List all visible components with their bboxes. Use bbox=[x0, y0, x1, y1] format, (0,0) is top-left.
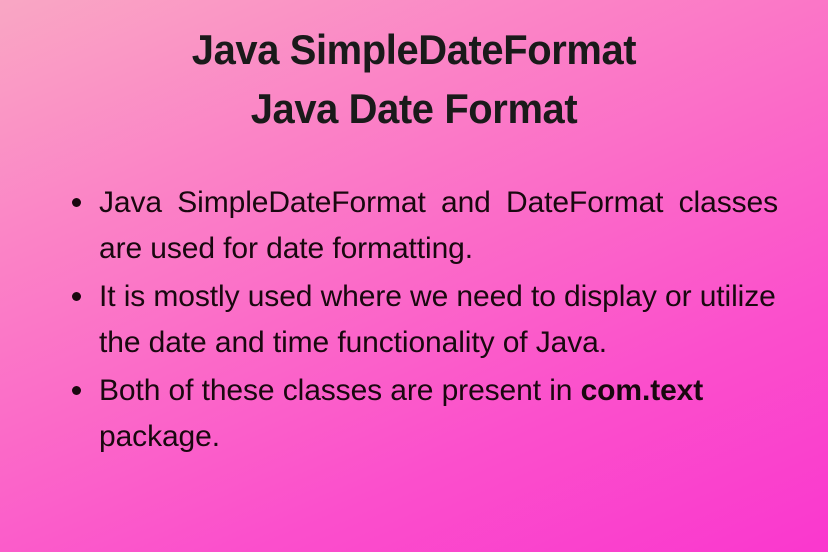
list-item-text-segment: It is mostly used where we need to displ… bbox=[99, 280, 776, 359]
list-item-text-segment-tail: package. bbox=[99, 420, 220, 453]
list-item-text-segment: Both of these classes are present in bbox=[99, 374, 581, 407]
page-title-line-1: Java SimpleDateFormat bbox=[21, 20, 808, 79]
list-item-text: Both of these classes are present in com… bbox=[99, 368, 778, 460]
list-item-bold-term: com.text bbox=[581, 374, 704, 407]
slide-canvas: Java SimpleDateFormat Java Date Format J… bbox=[0, 0, 828, 552]
page-title-line-2: Java Date Format bbox=[21, 79, 808, 138]
title-block: Java SimpleDateFormat Java Date Format bbox=[0, 20, 828, 138]
list-item: Java SimpleDateFormat and DateFormat cla… bbox=[68, 180, 778, 272]
list-item-text-segment: Java SimpleDateFormat and DateFormat cla… bbox=[99, 186, 778, 265]
list-item-text: It is mostly used where we need to displ… bbox=[99, 274, 778, 366]
list-item: Both of these classes are present in com… bbox=[68, 368, 778, 460]
bullet-dot-icon bbox=[72, 386, 81, 395]
bullet-list: Java SimpleDateFormat and DateFormat cla… bbox=[68, 180, 778, 462]
bullet-dot-icon bbox=[72, 198, 81, 207]
bullet-dot-icon bbox=[72, 292, 81, 301]
list-item: It is mostly used where we need to displ… bbox=[68, 274, 778, 366]
list-item-text: Java SimpleDateFormat and DateFormat cla… bbox=[99, 180, 778, 272]
